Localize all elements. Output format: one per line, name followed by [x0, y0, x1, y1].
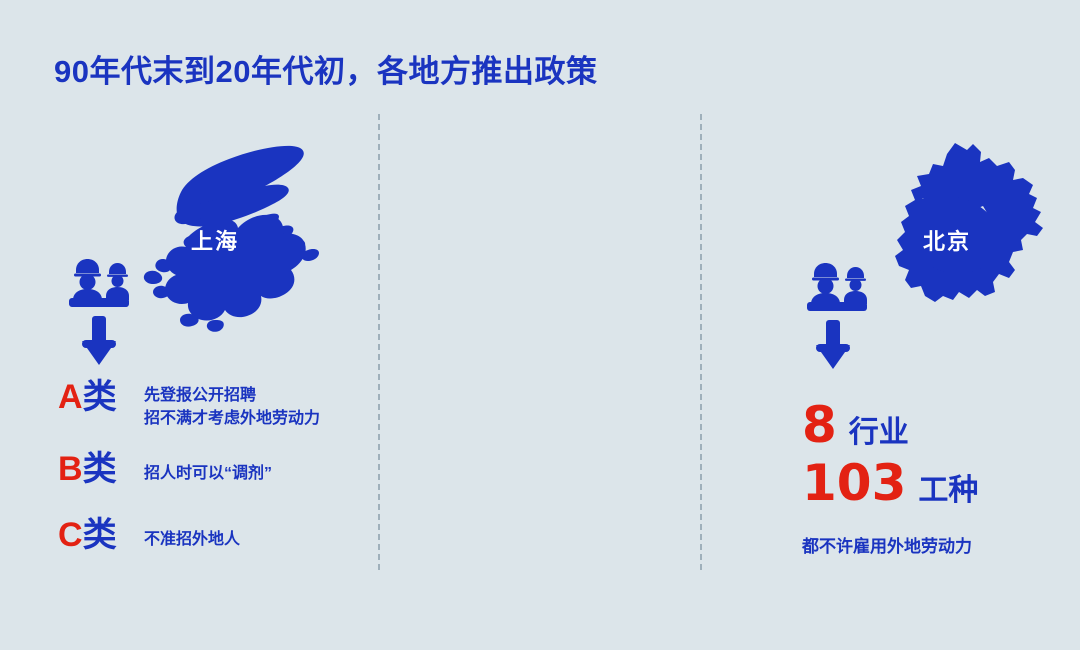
policy-tag-a: A类: [58, 380, 144, 414]
policy-desc-a: 先登报公开招聘 招不满才考虑外地劳动力: [144, 380, 320, 430]
column-beijing: 北京: [378, 0, 700, 650]
policy-desc-c: 不准招外地人: [144, 518, 240, 551]
policy-letter-c: C: [58, 516, 83, 554]
column-qingdao: 青岛: [700, 0, 1080, 650]
map-label-shanghai: 上海: [191, 224, 239, 256]
policy-suffix-c: 类: [83, 516, 117, 554]
policy-suffix-a: 类: [83, 378, 117, 416]
policy-desc-b: 招人时可以“调剂”: [144, 452, 272, 485]
two-workers-icon-shanghai: [68, 258, 130, 308]
policy-letter-b: B: [58, 450, 83, 488]
down-arrow-icon-shanghai: [80, 316, 118, 366]
policy-row-b: B类 招人时可以“调剂”: [58, 452, 272, 486]
policy-row-a: A类 先登报公开招聘 招不满才考虑外地劳动力: [58, 380, 320, 430]
infographic-canvas: 90年代末到20年代初，各地方推出政策: [0, 0, 1080, 650]
policy-tag-b: B类: [58, 452, 144, 486]
shanghai-map-icon: 上海: [125, 132, 335, 332]
policy-letter-a: A: [58, 378, 83, 416]
policy-tag-c: C类: [58, 518, 144, 552]
column-shanghai: 上海: [0, 0, 378, 650]
policy-row-c: C类 不准招外地人: [58, 518, 240, 552]
policy-suffix-b: 类: [83, 450, 117, 488]
